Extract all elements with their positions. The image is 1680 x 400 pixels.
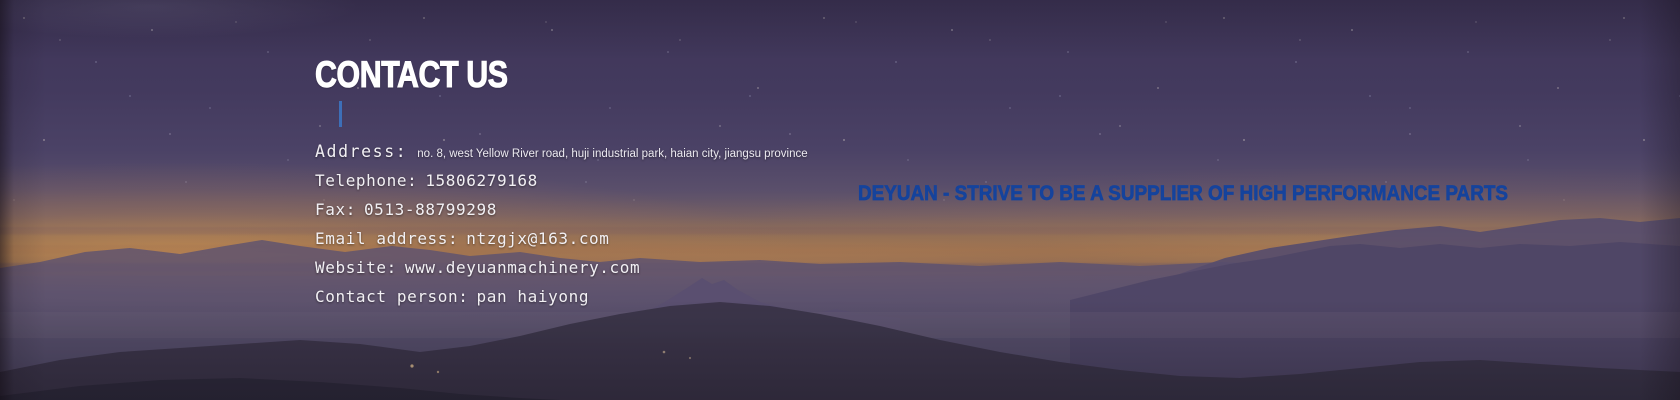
contact-row-telephone: Telephone: 15806279168 xyxy=(315,171,808,200)
contact-details-list: Address: no. 8, west Yellow River road, … xyxy=(315,142,808,316)
contact-value-address: no. 8, west Yellow River road, huji indu… xyxy=(417,148,807,160)
contact-label-website: Website: xyxy=(315,258,397,277)
contact-value-email[interactable]: ntzgjx@163.com xyxy=(466,229,609,248)
contact-row-fax: Fax: 0513-88799298 xyxy=(315,200,808,229)
title-accent-bar xyxy=(339,101,342,127)
contact-value-person: pan haiyong xyxy=(477,287,590,306)
company-slogan: DEYUAN - STRIVE TO BE A SUPPLIER OF HIGH… xyxy=(858,183,1508,204)
banner-content: CONTACT US Address: no. 8, west Yellow R… xyxy=(0,0,1680,400)
contact-label-fax: Fax: xyxy=(315,200,356,219)
contact-banner: CONTACT US Address: no. 8, west Yellow R… xyxy=(0,0,1680,400)
contact-label-address: Address: xyxy=(315,142,407,161)
contact-row-address: Address: no. 8, west Yellow River road, … xyxy=(315,142,808,171)
contact-row-email: Email address: ntzgjx@163.com xyxy=(315,229,808,258)
contact-label-person: Contact person: xyxy=(315,287,469,306)
contact-label-email: Email address: xyxy=(315,229,458,248)
contact-value-fax: 0513-88799298 xyxy=(364,200,497,219)
contact-value-telephone[interactable]: 15806279168 xyxy=(425,171,538,190)
page-title: CONTACT US xyxy=(315,56,508,93)
contact-value-website[interactable]: www.deyuanmachinery.com xyxy=(405,258,640,277)
contact-label-telephone: Telephone: xyxy=(315,171,417,190)
contact-row-website: Website: www.deyuanmachinery.com xyxy=(315,258,808,287)
contact-row-person: Contact person: pan haiyong xyxy=(315,287,808,316)
